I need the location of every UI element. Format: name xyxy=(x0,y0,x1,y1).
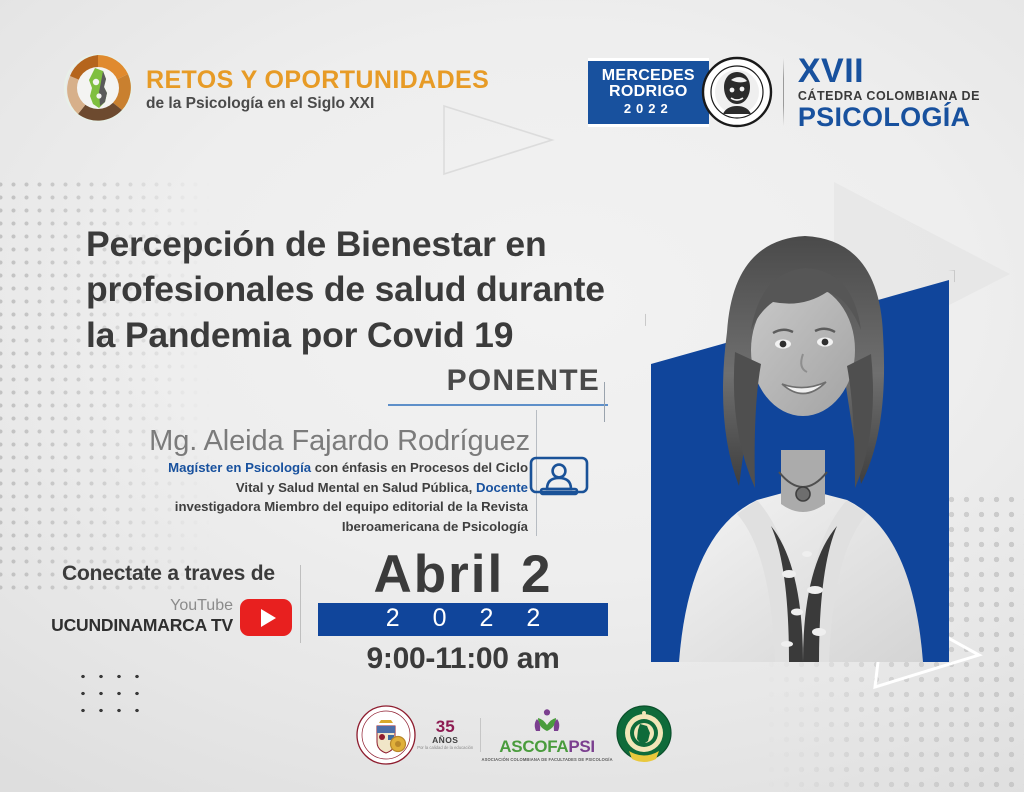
bio-text-2: investigadora Miembro del equipo editori… xyxy=(175,499,528,534)
mercedes-line: MERCEDES xyxy=(602,68,695,84)
connect-heading: Conectate a traves de xyxy=(62,562,292,586)
catedra-header-lockup: MERCEDES RODRIGO 2022 XVII CÁTEDRA COLOM… xyxy=(588,54,980,131)
catedra-title-block: XVII CÁTEDRA COLOMBIANA DE PSICOLOGÍA xyxy=(798,54,980,131)
platform-label: YouTube xyxy=(51,596,233,615)
mercedes-rodrigo-seal-icon xyxy=(701,56,773,128)
connect-date-divider xyxy=(300,565,301,643)
play-triangle-icon xyxy=(261,609,276,627)
bio-highlight-role: Docente xyxy=(476,480,528,495)
anniversary-label: AÑOS xyxy=(417,735,473,745)
ascofapsi-word-b: PSI xyxy=(568,737,595,756)
youtube-play-icon[interactable] xyxy=(240,599,292,636)
event-date-block: Abril 2 2022 9:00-11:00 am xyxy=(318,548,608,676)
ascofapsi-word-a: ASCOFA xyxy=(499,737,568,756)
mercedes-rodrigo-badge: MERCEDES RODRIGO 2022 xyxy=(588,58,709,127)
bio-highlight-degree: Magíster en Psicología xyxy=(168,460,311,475)
speaker-photo-block xyxy=(639,182,969,662)
speaker-name: Mg. Aleida Fajardo Rodríguez xyxy=(110,425,530,458)
event-month-day: Abril 2 xyxy=(318,548,608,601)
retos-oportunidades-logo: RETOS Y OPORTUNIDADES de la Psicología e… xyxy=(62,52,489,124)
colombia-map-hands-logo-icon xyxy=(62,52,134,124)
anniversary-tagline: Por la calidad de la educación xyxy=(417,745,473,750)
catedra-subtitle: CÁTEDRA COLOMBIANA DE xyxy=(798,90,980,103)
page-title: Percepción de Bienestar en profesionales… xyxy=(86,222,616,358)
universidad-de-cundinamarca-logo-icon xyxy=(613,704,675,766)
rodrigo-line: RODRIGO xyxy=(602,84,695,100)
ascofapsi-wordmark: ASCOFAPSI xyxy=(481,738,612,755)
connect-block: Conectate a traves de YouTube UCUNDINAMA… xyxy=(62,562,292,636)
dot-grid-bottom-left xyxy=(74,668,144,720)
ponente-label: PONENTE xyxy=(300,364,600,398)
ponente-underline xyxy=(388,404,608,406)
35-anos-logo: 35 AÑOS Por la calidad de la educación xyxy=(417,718,481,752)
header-divider xyxy=(783,58,784,126)
ponente-tick-mark xyxy=(604,382,605,422)
ascofapsi-tagline: ASOCIACIÓN COLOMBIANA DE FACULTADES DE P… xyxy=(481,757,612,762)
logo-line-1: RETOS Y OPORTUNIDADES xyxy=(146,67,489,93)
event-time: 9:00-11:00 am xyxy=(318,642,608,676)
event-poster: RETOS Y OPORTUNIDADES de la Psicología e… xyxy=(0,0,1024,792)
presenter-screen-icon xyxy=(528,455,590,505)
ascofapsi-logo: ASCOFAPSI ASOCIACIÓN COLOMBIANA DE FACUL… xyxy=(481,709,612,762)
channel-name: UCUNDINAMARCA TV xyxy=(51,615,233,636)
event-year: 2022 xyxy=(318,603,608,636)
speaker-bio: Magíster en Psicología con énfasis en Pr… xyxy=(150,458,528,536)
footer-logo-strip: 35 AÑOS Por la calidad de la educación A… xyxy=(355,700,675,770)
badge-year: 2022 xyxy=(602,102,695,115)
anniversary-number: 35 xyxy=(417,719,473,735)
logo-line-2: de la Psicología en el Siglo XXI xyxy=(146,95,489,113)
avatar xyxy=(639,182,969,662)
catedra-roman: XVII xyxy=(798,54,980,88)
catedra-main: PSICOLOGÍA xyxy=(798,104,980,131)
ascofapsi-plant-icon xyxy=(530,709,564,733)
universidad-de-caldas-logo-icon xyxy=(355,704,417,766)
